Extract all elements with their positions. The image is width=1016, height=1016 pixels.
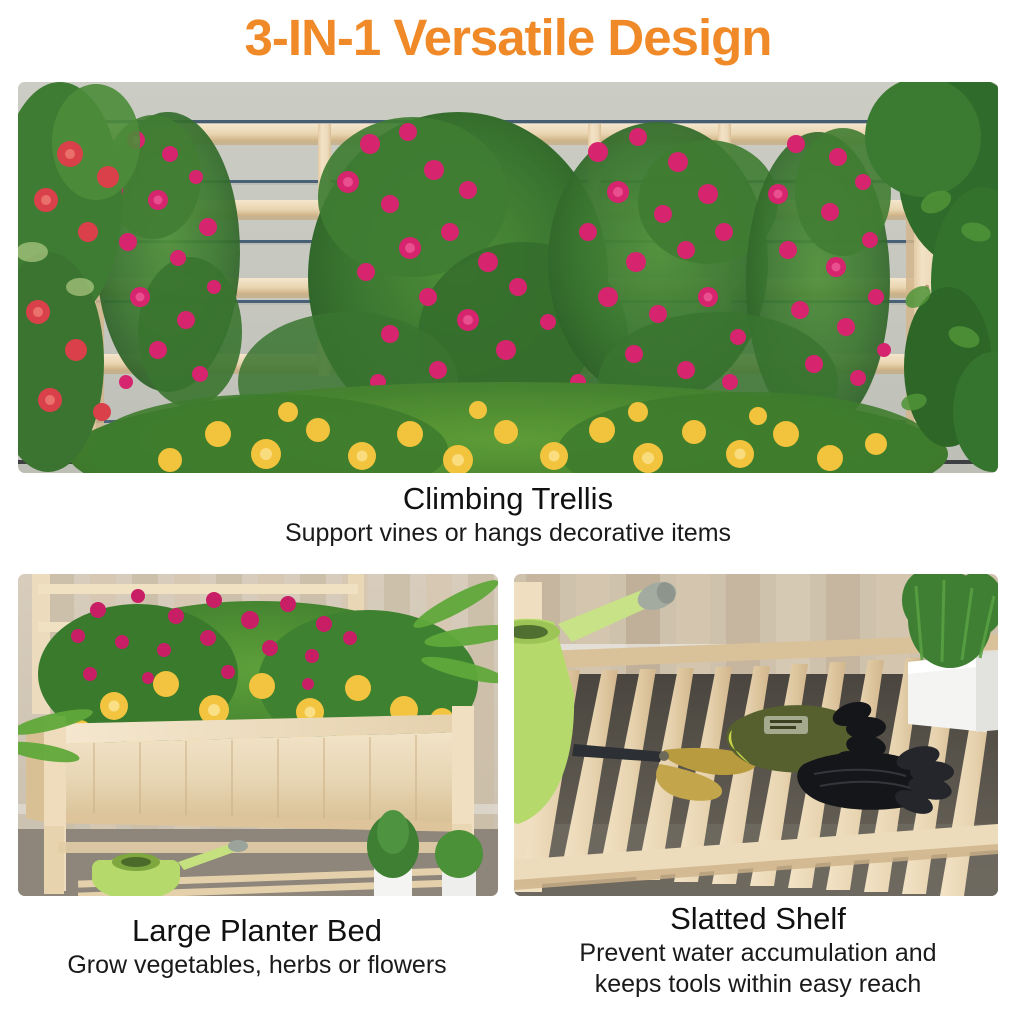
caption-heading: Large Planter Bed (8, 912, 506, 950)
planter-illustration (18, 574, 498, 896)
caption-slatted-shelf: Slatted Shelf Prevent water accumulation… (510, 900, 1006, 1000)
caption-heading: Climbing Trellis (0, 480, 1016, 518)
small-plant-right (435, 830, 483, 896)
shelf-illustration (514, 574, 998, 896)
image-large-planter-bed (18, 574, 498, 896)
trellis-illustration (18, 82, 998, 473)
caption-heading: Slatted Shelf (510, 900, 1006, 938)
image-climbing-trellis (18, 82, 998, 473)
caption-subtitle: Support vines or hangs decorative items (0, 518, 1016, 549)
infographic-page: 3-IN-1 Versatile Design (0, 0, 1016, 1016)
caption-climbing-trellis: Climbing Trellis Support vines or hangs … (0, 480, 1016, 549)
image-slatted-shelf (514, 574, 998, 896)
caption-subtitle: Grow vegetables, herbs or flowers (8, 950, 506, 981)
caption-large-planter-bed: Large Planter Bed Grow vegetables, herbs… (8, 912, 506, 981)
caption-subtitle-line-1: Prevent water accumulation and (510, 938, 1006, 969)
page-title: 3-IN-1 Versatile Design (0, 10, 1016, 66)
caption-subtitle-line-2: keeps tools within easy reach (510, 969, 1006, 1000)
